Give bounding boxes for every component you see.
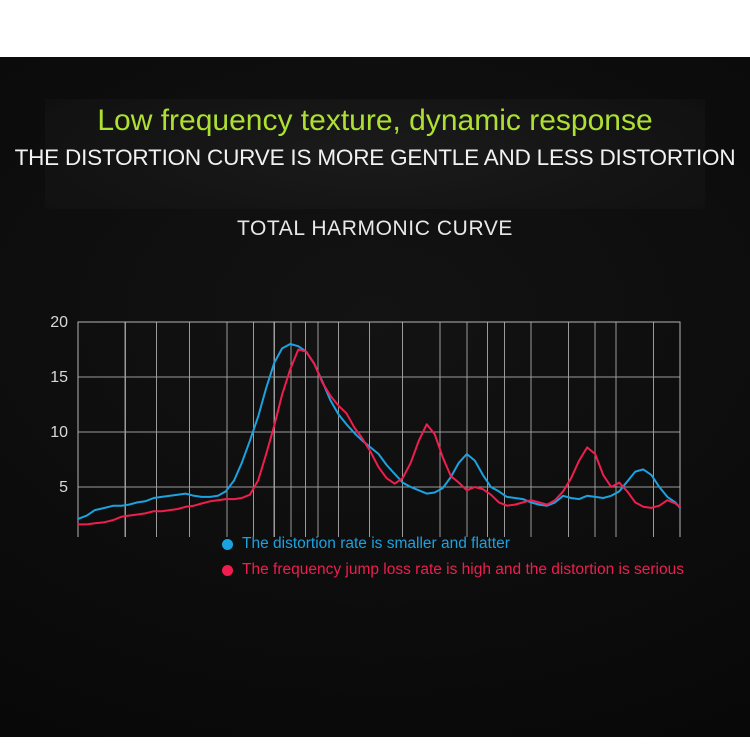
legend-label-blue: The distortion rate is smaller and flatt… <box>242 535 510 552</box>
blue-dot-icon <box>222 539 233 550</box>
chart-legend: The distortion rate is smaller and flatt… <box>222 535 742 587</box>
x-gridlines <box>125 322 653 537</box>
red-dot-icon <box>222 565 233 576</box>
chart-title: TOTAL HARMONIC CURVE <box>0 217 750 241</box>
plot-frame <box>78 322 680 537</box>
screenshot-root: Low frequency texture, dynamic response … <box>0 0 750 750</box>
chart-svg: 5101520 50300100010000 AUDIO (Hz) <box>0 247 750 537</box>
series-layer <box>78 344 680 524</box>
legend-label-red: The frequency jump loss rate is high and… <box>242 561 684 578</box>
svg-text:20: 20 <box>50 314 68 331</box>
harmonic-curve-chart: 5101520 50300100010000 AUDIO (Hz) <box>0 247 750 537</box>
subtitle-heading: THE DISTORTION CURVE IS MORE GENTLE AND … <box>0 145 750 171</box>
legend-item-red: The frequency jump loss rate is high and… <box>222 561 742 578</box>
svg-text:5: 5 <box>59 479 68 496</box>
y-gridlines <box>78 322 680 487</box>
legend-item-blue: The distortion rate is smaller and flatt… <box>222 535 742 552</box>
tagline-heading: Low frequency texture, dynamic response <box>0 104 750 138</box>
y-tick-labels: 5101520 <box>50 314 68 496</box>
svg-text:15: 15 <box>50 369 68 386</box>
dark-panel: Low frequency texture, dynamic response … <box>0 57 750 737</box>
svg-text:10: 10 <box>50 424 68 441</box>
